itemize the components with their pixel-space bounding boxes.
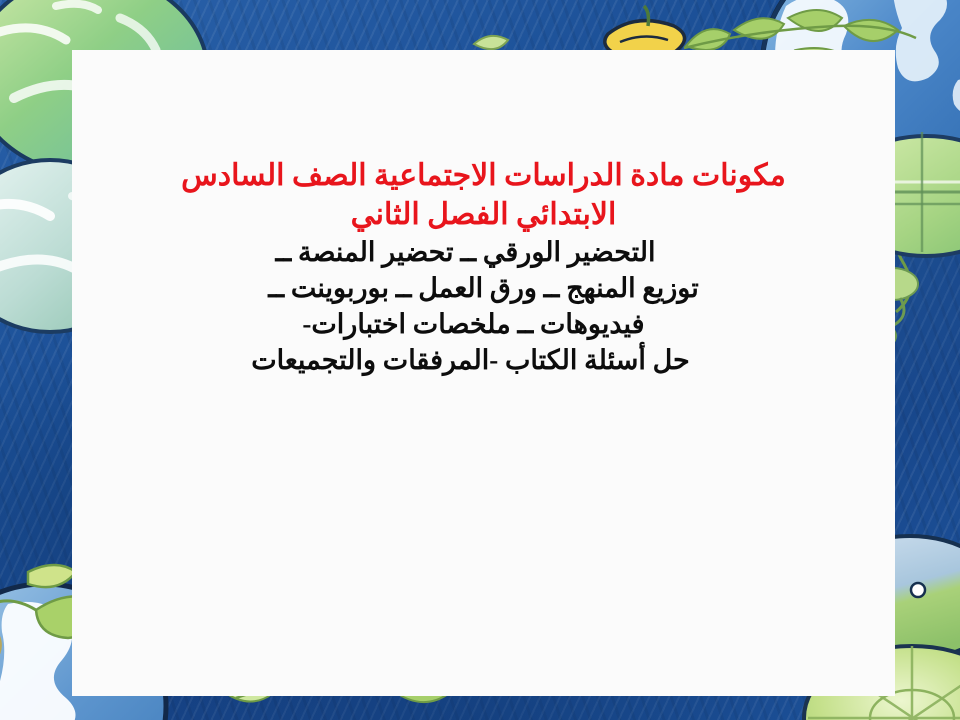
slide-canvas: مكونات مادة الدراسات الاجتماعية الصف الس…: [0, 0, 960, 720]
slide-text-content: مكونات مادة الدراسات الاجتماعية الصف الس…: [72, 50, 895, 696]
body-line-1: التحضير الورقي ــ تحضير المنصة ــ: [144, 234, 824, 270]
title-line-1: مكونات مادة الدراسات الاجتماعية الصف: [292, 159, 786, 192]
body-line-4: حل أسئلة الكتاب -المرفقات والتجميعات: [144, 342, 824, 378]
body-line-2: توزيع المنهج ــ ورق العمل ــ بوربوينت ــ: [144, 270, 824, 306]
slide-title: مكونات مادة الدراسات الاجتماعية الصف الس…: [164, 156, 804, 234]
body-line-3: فيديوهات ــ ملخصات اختبارات-: [144, 306, 824, 342]
slide-body: التحضير الورقي ــ تحضير المنصة ــ توزيع …: [144, 234, 824, 378]
